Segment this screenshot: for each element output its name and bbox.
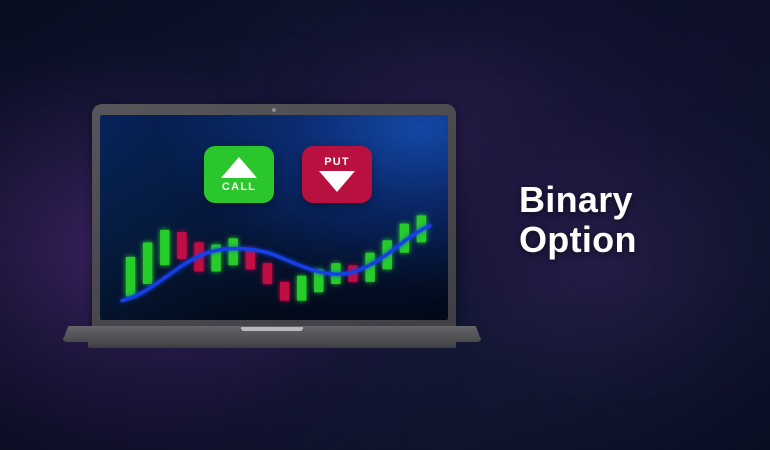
page-title-line-1: Binary xyxy=(519,180,637,220)
laptop-latch-notch xyxy=(241,327,303,331)
triangle-up-icon xyxy=(221,157,257,178)
candle-down xyxy=(246,249,255,270)
candle-up xyxy=(126,257,135,297)
candle-down xyxy=(280,282,289,301)
put-button[interactable]: PUT xyxy=(302,146,372,203)
laptop-lid: CALL PUT xyxy=(92,104,456,332)
candlestick-chart xyxy=(100,115,448,320)
poster-canvas: CALL PUT Binary Option xyxy=(0,0,770,450)
webcam-icon xyxy=(272,108,276,112)
candle-down xyxy=(263,263,272,284)
page-title-line-2: Option xyxy=(519,220,637,260)
call-button[interactable]: CALL xyxy=(204,146,274,203)
put-button-label: PUT xyxy=(324,157,350,168)
call-button-label: CALL xyxy=(222,182,256,193)
triangle-down-icon xyxy=(319,171,355,192)
candle-up xyxy=(297,276,306,301)
candle-up xyxy=(143,242,152,284)
laptop-screen: CALL PUT xyxy=(100,115,448,320)
candle-up xyxy=(160,230,169,265)
candle-down xyxy=(177,232,186,259)
page-title: Binary Option xyxy=(519,180,637,261)
laptop-device: CALL PUT xyxy=(62,104,482,344)
candle-up xyxy=(229,238,238,265)
